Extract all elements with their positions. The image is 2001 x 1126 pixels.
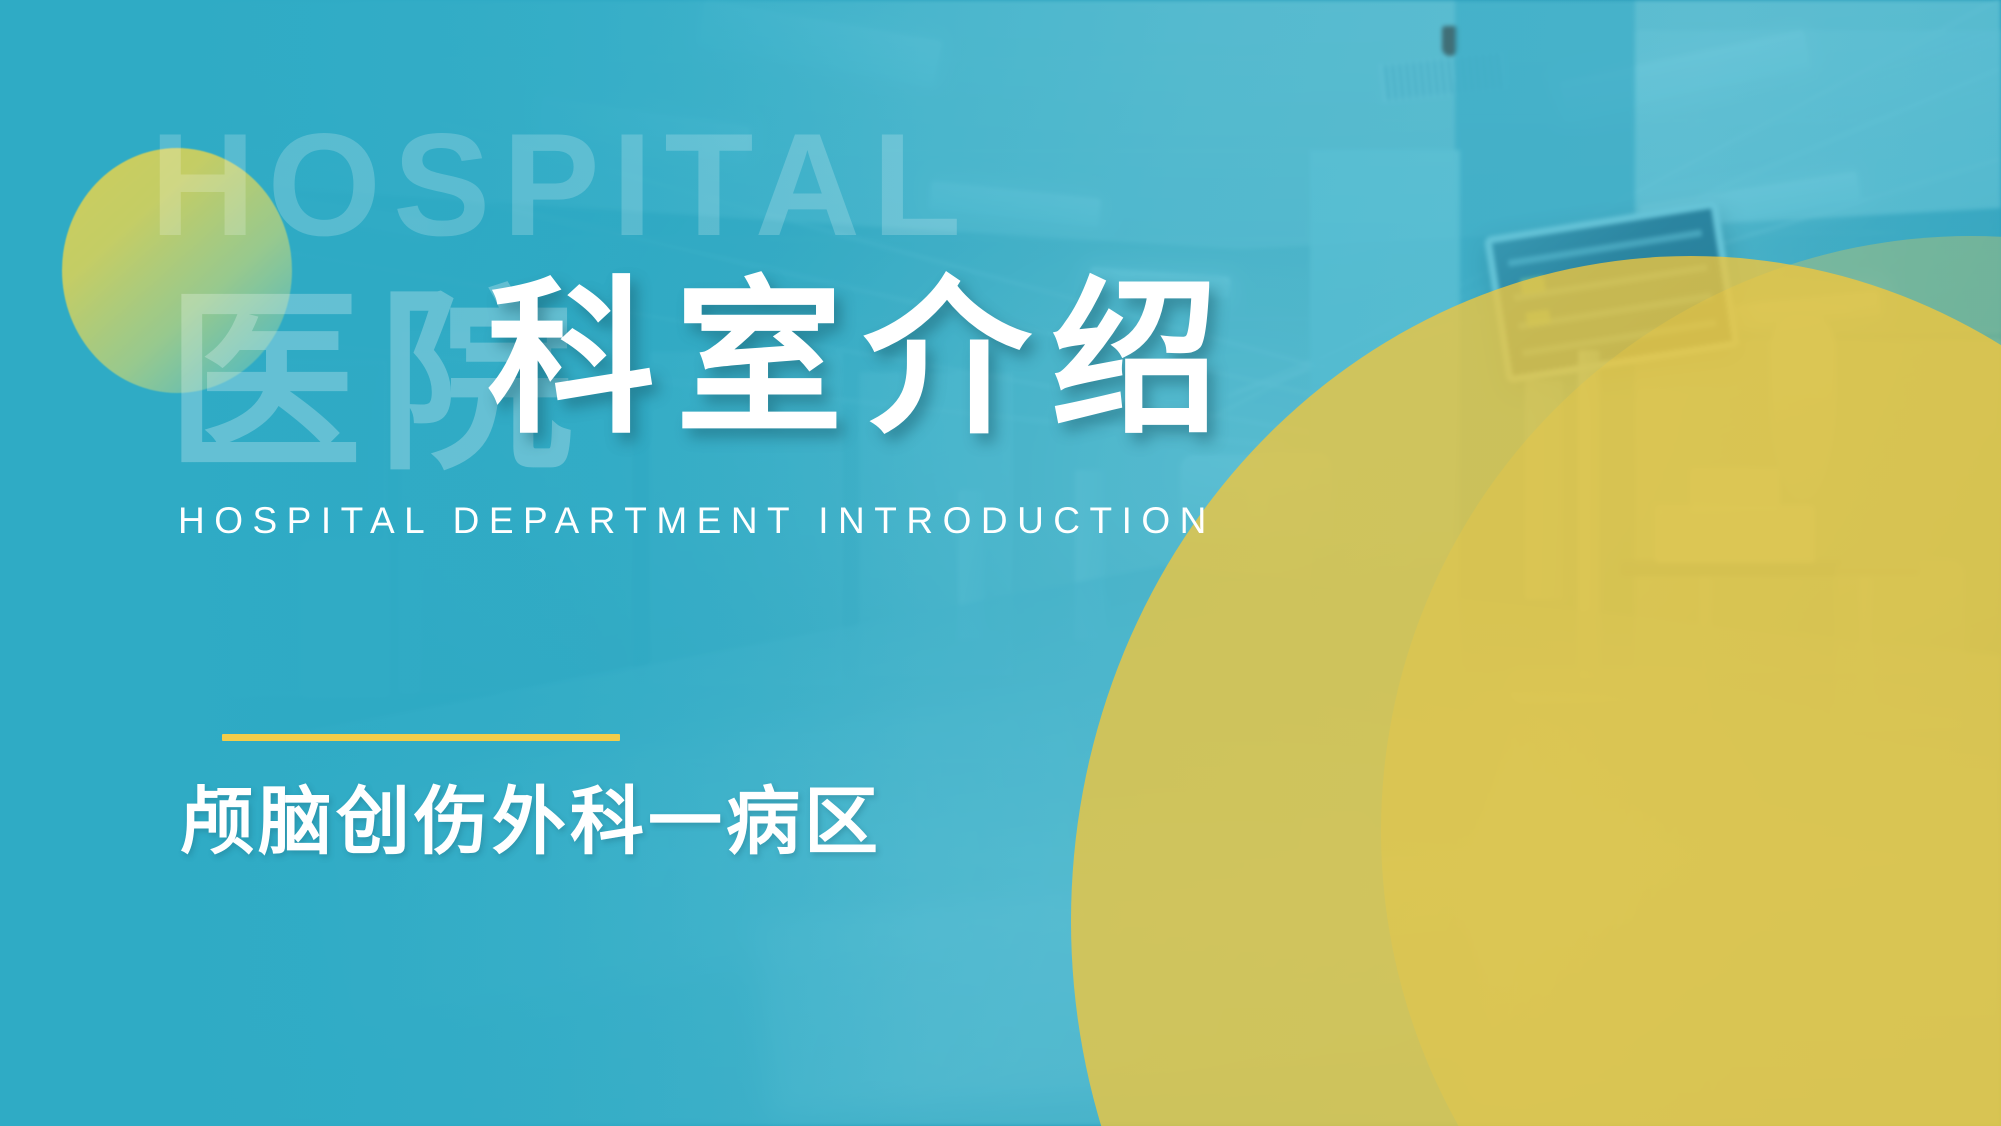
department-name: 颅脑创伤外科一病区 <box>180 762 882 869</box>
watermark-hospital-text: HOSPITAL <box>150 112 973 258</box>
yellow-divider-rule <box>222 734 620 741</box>
page-title: 科室介绍 <box>487 268 1239 449</box>
subtitle-english: HOSPITAL DEPARTMENT INTRODUCTION <box>178 500 1216 542</box>
slide-canvas: HOSPITAL 医院 科室介绍 HOSPITAL DEPARTMENT INT… <box>0 0 2001 1126</box>
